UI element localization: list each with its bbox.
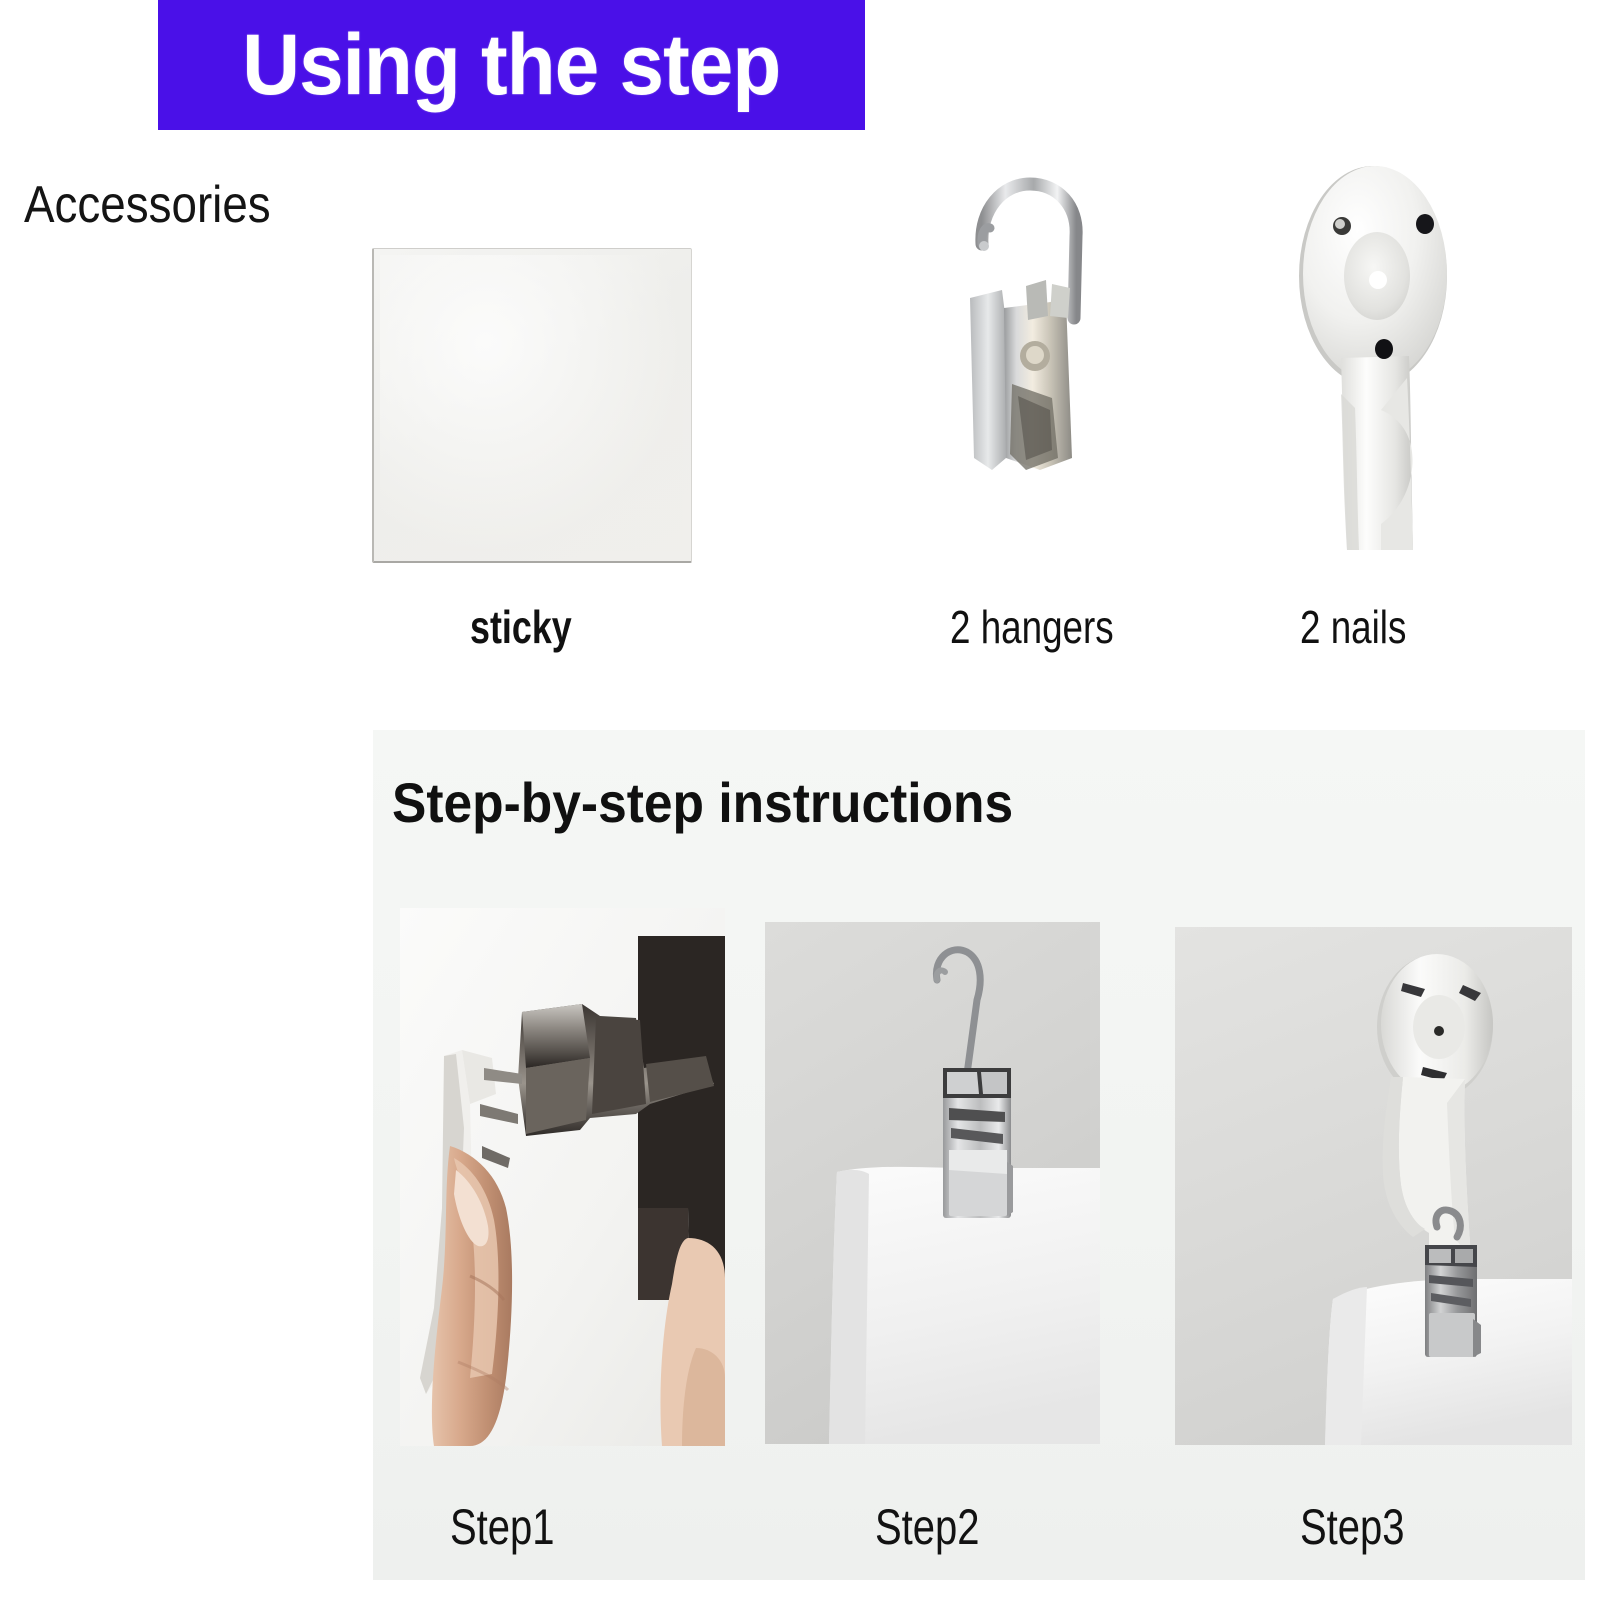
accessory-caption-sticky: sticky [470, 600, 572, 654]
step-2-photo [765, 922, 1100, 1444]
page-title: Using the step [242, 22, 780, 108]
step-2-caption: Step2 [875, 1498, 980, 1556]
wall-hook-nail-icon [1285, 158, 1465, 558]
step-3-caption: Step3 [1300, 1498, 1405, 1556]
step-1-caption: Step1 [450, 1498, 555, 1556]
accessory-caption-hangers: 2 hangers [950, 600, 1114, 654]
steps-row [373, 905, 1585, 1450]
step-3-photo [1175, 927, 1572, 1445]
accessories-section-label: Accessories [24, 175, 271, 235]
accessory-caption-nails: 2 nails [1300, 600, 1406, 654]
hanger-clip-icon [940, 158, 1110, 568]
sticky-pad-icon [372, 248, 692, 563]
title-banner: Using the step [158, 0, 865, 130]
instructions-section-title: Step-by-step instructions [392, 770, 1013, 835]
step-1-photo [400, 908, 725, 1446]
